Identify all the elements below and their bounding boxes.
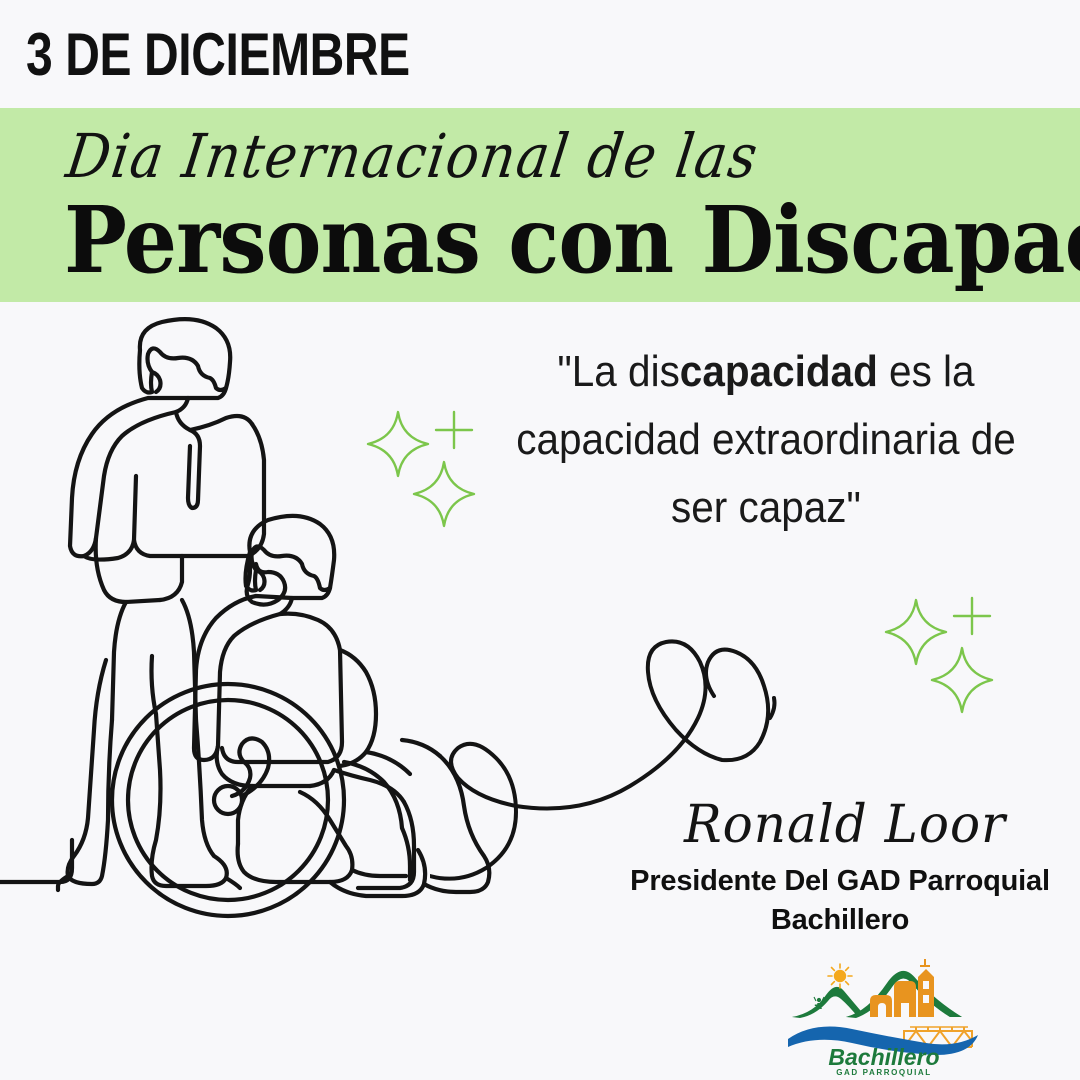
sun-icon: [828, 964, 852, 988]
signature-role: Presidente Del GAD Parroquial Bachillero: [600, 862, 1080, 940]
signature-role-line-2: Bachillero: [600, 901, 1080, 940]
quote-highlight: capacidad: [680, 347, 878, 396]
green-banner: Dia Internacional de las Personas con Di…: [0, 108, 1080, 302]
logo-subtitle: GAD PARROQUIAL: [836, 1068, 932, 1077]
bachillero-logo: Bachillero GAD PARROQUIAL: [786, 955, 982, 1077]
poster-canvas: 3 DE DICIEMBRE Dia Internacional de las …: [0, 0, 1080, 1080]
banner-title: Personas con Discapacidad: [64, 190, 1080, 290]
page-title: 3 DE DICIEMBRE: [26, 24, 410, 86]
heart-swirl-icon: [430, 600, 850, 900]
sparkle-cluster-right-icon: [884, 592, 1014, 722]
signature-name: Ronald Loor: [610, 795, 1080, 854]
signature-role-line-1: Presidente Del GAD Parroquial: [600, 862, 1080, 901]
sparkle-cluster-left-icon: [362, 404, 492, 534]
logo-wordmark: Bachillero: [828, 1044, 939, 1070]
banner-script-line: Dia Internacional de las: [62, 122, 763, 191]
